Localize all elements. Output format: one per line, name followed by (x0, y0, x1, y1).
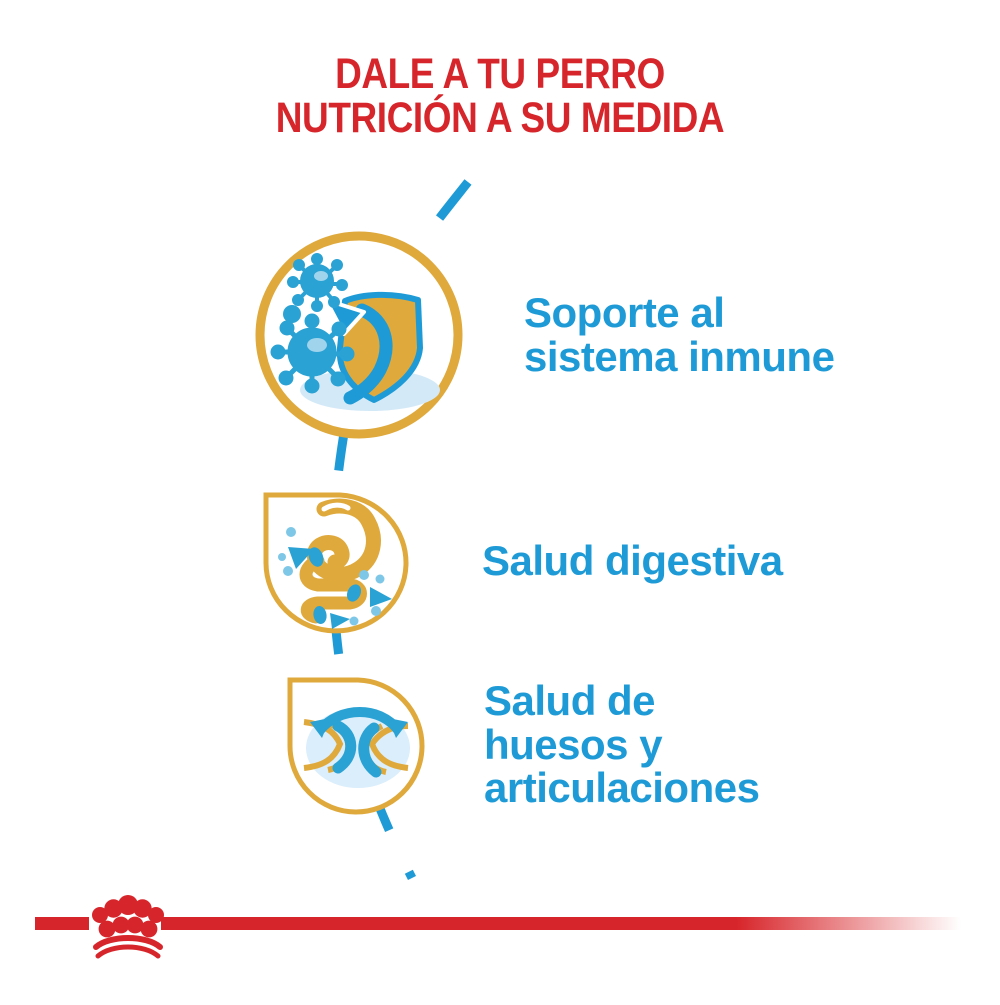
benefit-label-immune: Soporte al sistema inmune (524, 291, 834, 378)
royal-canin-crown-icon (0, 890, 1000, 1000)
benefit-row-digestive: Salud digestiva (258, 487, 783, 635)
headline-line-1: DALE A TU PERRO (70, 52, 930, 96)
benefit-label-bones-joints: Salud de huesos y articulaciones (484, 679, 759, 810)
shield-virus-immune-icon (252, 228, 466, 442)
bone-joint-icon (282, 672, 432, 817)
headline-line-2: NUTRICIÓN A SU MEDIDA (70, 96, 930, 140)
benefit-row-bones-joints: Salud de huesos y articulaciones (282, 672, 759, 817)
benefit-label-digestive: Salud digestiva (482, 539, 783, 583)
benefit-row-immune: Soporte al sistema inmune (252, 228, 834, 442)
footer (0, 890, 1000, 1000)
stomach-intestine-digestive-icon (258, 487, 418, 635)
page-title: DALE A TU PERRO NUTRICIÓN A SU MEDIDA (70, 52, 930, 141)
poster-canvas: DALE A TU PERRO NUTRICIÓN A SU MEDIDA (0, 0, 1000, 1000)
